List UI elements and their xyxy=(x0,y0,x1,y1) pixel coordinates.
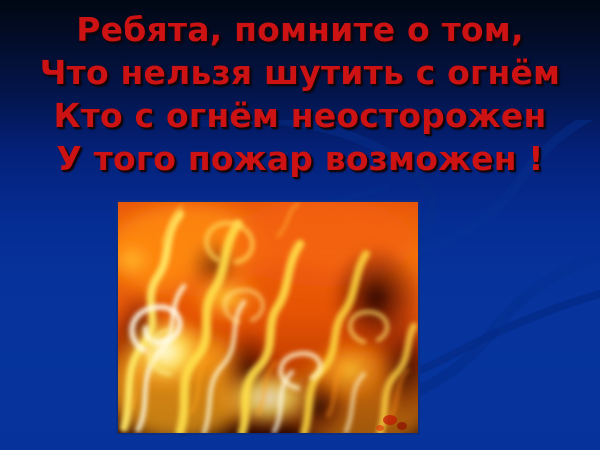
verse-line-4: У того пожар возможен ! xyxy=(0,137,600,180)
verse-text-block: Ребята, помните о том, Что нельзя шутить… xyxy=(0,8,600,180)
fire-photo-frame xyxy=(116,200,420,435)
verse-line-3: Кто с огнём неосторожен xyxy=(0,94,600,137)
verse-line-1: Ребята, помните о том, xyxy=(0,8,600,51)
verse-line-2: Что нельзя шутить с огнём xyxy=(0,51,600,94)
fire-photo xyxy=(118,202,418,433)
presentation-slide: Ребята, помните о том, Что нельзя шутить… xyxy=(0,0,600,450)
